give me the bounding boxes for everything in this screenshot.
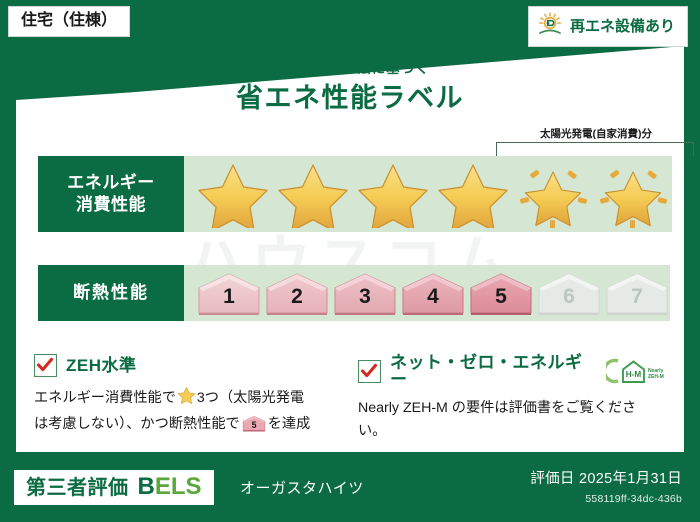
insulation-badge-6: 6 bbox=[536, 271, 602, 315]
star-solar-sparkle bbox=[514, 160, 592, 228]
energy-label-line1: エネルギー bbox=[67, 172, 155, 194]
checkbox-checked-icon bbox=[34, 354, 57, 377]
energy-row-label: エネルギー 消費性能 bbox=[38, 156, 184, 232]
zeh-body-part2: 3つ（太陽光発電 bbox=[197, 390, 304, 406]
star-filled bbox=[194, 160, 272, 228]
zeh-body-part3: は考慮しない）、かつ断熱性能で bbox=[34, 416, 240, 432]
zeh-body-part4: を達成 bbox=[268, 416, 311, 432]
nearly-zeh-m-logo-icon: H-M Nearly ZEH-M bbox=[606, 358, 664, 384]
insulation-badge-number: 3 bbox=[359, 286, 371, 315]
checkbox-checked-icon bbox=[358, 360, 381, 383]
star-filled bbox=[354, 160, 432, 228]
insulation-level-badges: 1 2 bbox=[184, 271, 670, 315]
zeh-standard-title: ZEH水準 bbox=[66, 357, 137, 374]
renewable-badge-label: 再エネ設備あり bbox=[570, 19, 675, 34]
insulation-performance-row: 断熱性能 1 bbox=[38, 265, 662, 321]
renewable-equipment-badge: 再エネ設備あり bbox=[528, 6, 688, 47]
solar-sun-icon bbox=[537, 12, 563, 41]
star-solar-sparkle bbox=[594, 160, 672, 228]
energy-label-line2: 消費性能 bbox=[76, 194, 146, 216]
insulation-badge-number: 4 bbox=[427, 286, 439, 315]
evaluation-date: 評価日 2025年1月31日 bbox=[530, 472, 682, 487]
insulation-badge-1: 1 bbox=[196, 271, 262, 315]
insulation-badge-4: 4 bbox=[400, 271, 466, 315]
title-block: 建築物省エネ法に基づく 省エネ性能ラベル bbox=[0, 62, 700, 112]
insulation-badge-7: 7 bbox=[604, 271, 670, 315]
svg-text:5: 5 bbox=[251, 420, 256, 430]
star-filled bbox=[434, 160, 512, 228]
title-main: 省エネ性能ラベル bbox=[0, 85, 700, 112]
insulation-badge-number: 7 bbox=[631, 286, 643, 315]
bels-third-party-label: 第三者評価 bbox=[26, 478, 129, 498]
title-subtitle: 建築物省エネ法に基づく bbox=[0, 62, 700, 76]
svg-text:H-M: H-M bbox=[626, 370, 642, 379]
inline-star-icon bbox=[177, 386, 196, 413]
energy-star-rating bbox=[184, 160, 672, 228]
bels-letter-b: B bbox=[138, 473, 155, 500]
zeh-body-part1: エネルギー消費性能で bbox=[34, 390, 176, 406]
property-name: オーガスタハイツ bbox=[240, 481, 364, 496]
insulation-badge-number: 6 bbox=[563, 286, 575, 315]
insulation-row-body: 1 2 bbox=[184, 265, 670, 321]
net-zero-heading: ネット・ゼロ・エネルギー H-M Nearly ZEH-M bbox=[358, 354, 664, 388]
zeh-standard-heading: ZEH水準 bbox=[34, 354, 344, 377]
energy-performance-row: エネルギー 消費性能 太陽光発電(自家消費)分 bbox=[38, 156, 662, 232]
insulation-badge-number: 2 bbox=[291, 286, 303, 315]
net-zero-title: ネット・ゼロ・エネルギー bbox=[390, 354, 591, 388]
footer-bar: 第三者評価 BELS オーガスタハイツ 評価日 2025年1月31日 55811… bbox=[0, 458, 700, 522]
bels-letters-els: ELS bbox=[155, 473, 202, 500]
insulation-label-text: 断熱性能 bbox=[73, 282, 149, 304]
insulation-badge-number: 5 bbox=[495, 286, 507, 315]
solar-bracket bbox=[496, 142, 694, 156]
net-zero-energy-section: ネット・ゼロ・エネルギー H-M Nearly ZEH-M Nearly ZEH… bbox=[358, 354, 664, 443]
record-id: 558119ff-34dc-436b bbox=[585, 494, 682, 505]
energy-row-body: 太陽光発電(自家消費)分 bbox=[184, 156, 672, 232]
housing-type-tag: 住宅（住棟） bbox=[8, 6, 130, 37]
svg-text:ZEH-M: ZEH-M bbox=[648, 374, 664, 380]
energy-performance-label: ハウスコム 住宅（住棟） 再エネ設備あり bbox=[0, 0, 700, 522]
net-zero-body: Nearly ZEH-M の要件は評価書をご覧ください。 bbox=[358, 397, 664, 443]
insulation-row-label: 断熱性能 bbox=[38, 265, 184, 321]
insulation-badge-number: 1 bbox=[223, 286, 235, 315]
star-filled bbox=[274, 160, 352, 228]
solar-contribution-note: 太陽光発電(自家消費)分 bbox=[486, 126, 700, 141]
insulation-badge-3: 3 bbox=[332, 271, 398, 315]
insulation-badge-5: 5 bbox=[468, 271, 534, 315]
bels-logo: 第三者評価 BELS bbox=[14, 470, 214, 505]
bels-wordmark: BELS bbox=[138, 475, 202, 499]
zeh-standard-body: エネルギー消費性能で 3つ（太陽光発電 は考慮しない）、かつ断熱性能で 5 を達… bbox=[34, 386, 344, 440]
insulation-badge-2: 2 bbox=[264, 271, 330, 315]
inline-insulation-badge: 5 bbox=[242, 415, 266, 440]
zeh-standard-section: ZEH水準 エネルギー消費性能で 3つ（太陽光発電 は考慮しない）、かつ断熱性能… bbox=[34, 354, 344, 440]
